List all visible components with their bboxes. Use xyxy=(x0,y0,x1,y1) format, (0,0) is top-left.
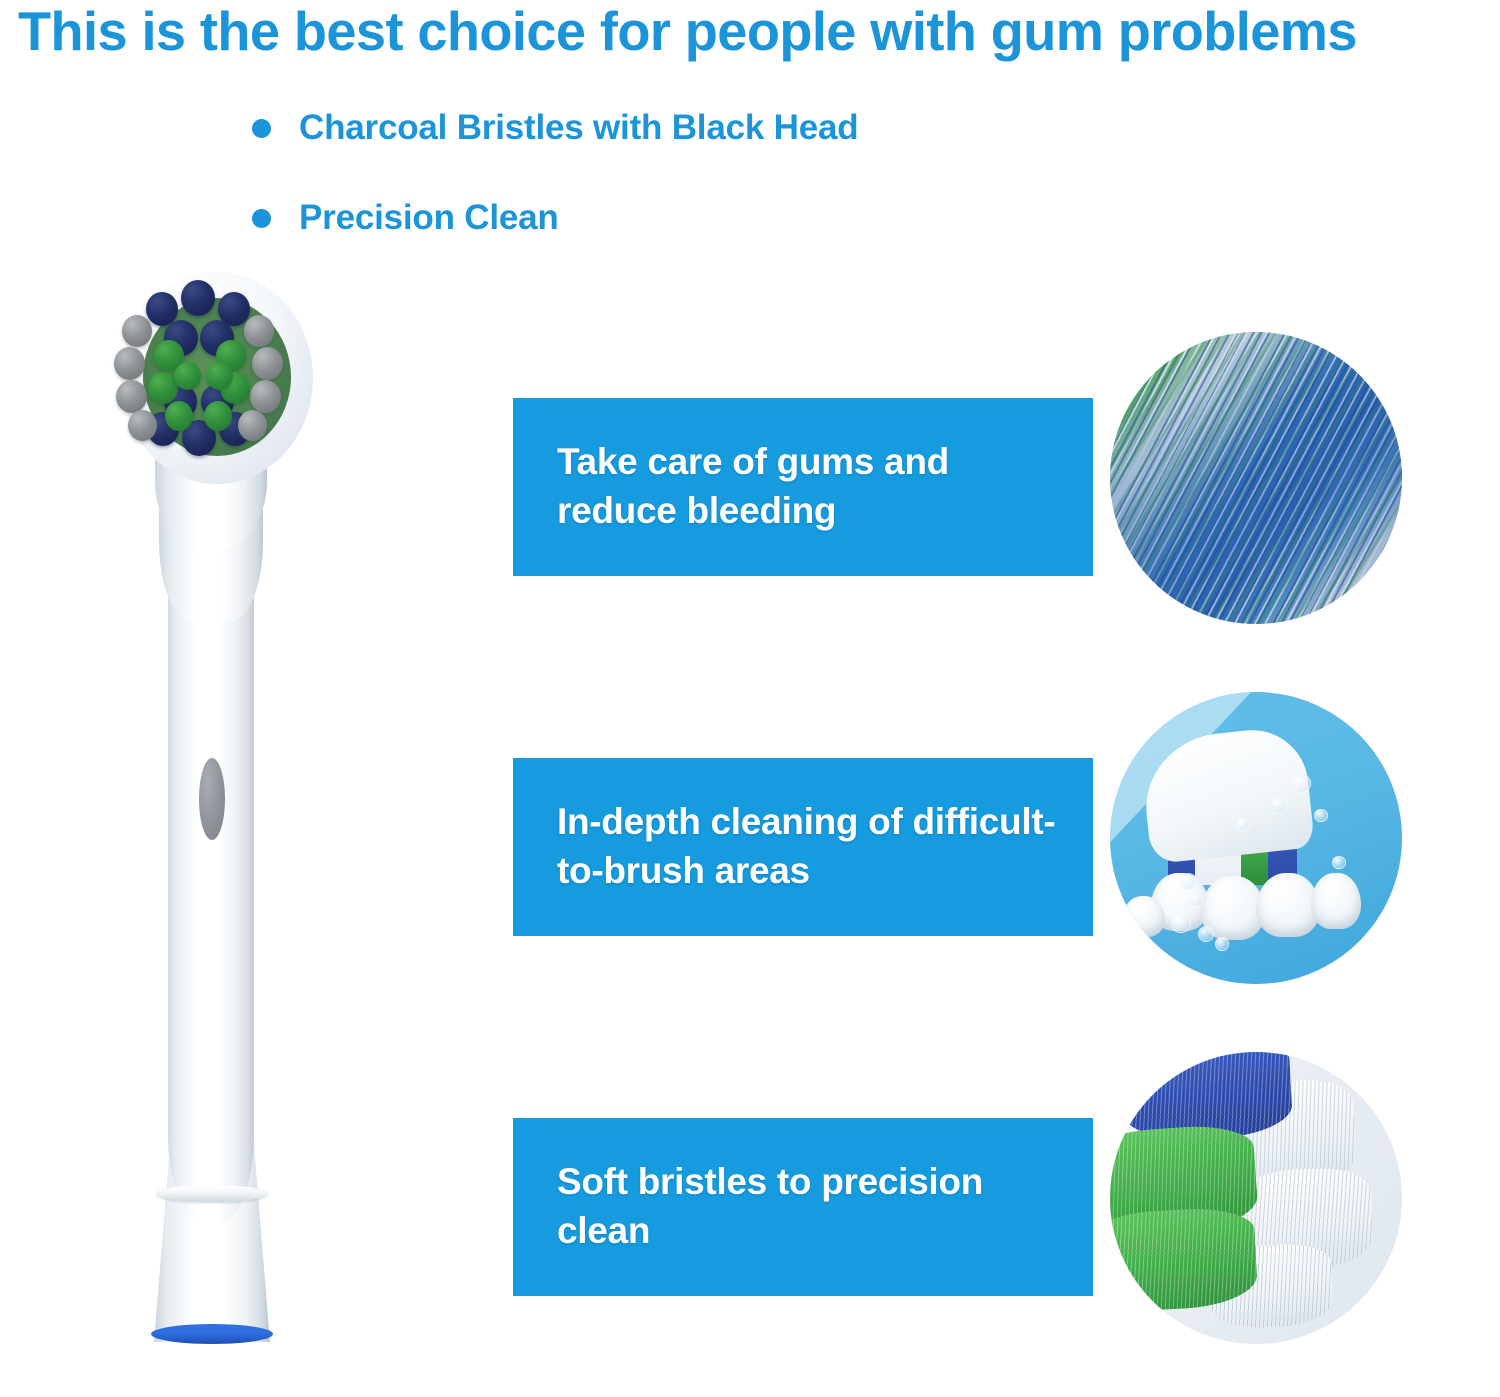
bullet-dot-icon xyxy=(252,209,271,228)
tooth xyxy=(1311,873,1361,928)
feature-banner-gums: Take care of gums and reduce bleeding xyxy=(513,398,1093,576)
bristle-tuft-charcoal xyxy=(122,315,152,347)
water-droplet xyxy=(1291,774,1311,794)
bristle-bundle-green xyxy=(1110,1205,1258,1313)
water-droplet xyxy=(1215,937,1229,951)
bristle-tuft-green xyxy=(204,401,232,431)
bullet-dot-icon xyxy=(252,119,271,138)
bristle-bundles-image xyxy=(1110,1052,1402,1344)
toothbrush-product-image xyxy=(96,262,396,1397)
bristle-tuft-charcoal xyxy=(252,347,283,380)
handle-indicator-oval xyxy=(199,758,225,840)
water-droplet xyxy=(1189,893,1203,907)
bristle-macro-closeup-image xyxy=(1110,332,1402,624)
bristle-tuft-green xyxy=(165,401,193,431)
bullet-item-charcoal-bristles: Charcoal Bristles with Black Head xyxy=(252,108,858,148)
water-droplet xyxy=(1332,856,1346,870)
water-droplet xyxy=(1180,873,1197,890)
bristle-tuft-charcoal xyxy=(250,380,281,413)
brush-head-cleaning-teeth-image xyxy=(1110,692,1402,984)
feature-text: Take care of gums and reduce bleeding xyxy=(513,438,1093,536)
feature-banner-deep-clean: In-depth cleaning of difficult-to-brush … xyxy=(513,758,1093,936)
bullet-label: Charcoal Bristles with Black Head xyxy=(299,108,858,148)
bristle-tuft-navy xyxy=(181,280,215,316)
bristle-tuft-green xyxy=(174,362,201,390)
water-droplet xyxy=(1271,797,1288,814)
bristle-tuft-charcoal xyxy=(238,410,267,441)
bullet-item-precision-clean: Precision Clean xyxy=(252,198,559,238)
bristle-tuft-charcoal xyxy=(114,347,145,380)
bristle-tuft-green xyxy=(206,362,233,390)
feature-banner-soft-bristles: Soft bristles to precision clean xyxy=(513,1118,1093,1296)
page-title: This is the best choice for people with … xyxy=(18,0,1471,62)
bullet-label: Precision Clean xyxy=(299,198,559,238)
bristle-blue-shade-layer xyxy=(1110,332,1402,624)
feature-text: In-depth cleaning of difficult-to-brush … xyxy=(513,798,1093,896)
bristle-tuft-charcoal xyxy=(128,410,157,441)
handle-collar-ridge xyxy=(156,1185,268,1202)
bristle-tuft-charcoal xyxy=(116,380,147,413)
handle-base-blue-ring xyxy=(151,1324,273,1344)
water-droplet xyxy=(1171,914,1191,934)
tooth xyxy=(1122,896,1166,937)
product-infographic: This is the best choice for people with … xyxy=(0,0,1500,1397)
bristle-tuft-charcoal xyxy=(244,315,274,347)
feature-text: Soft bristles to precision clean xyxy=(513,1158,1093,1256)
